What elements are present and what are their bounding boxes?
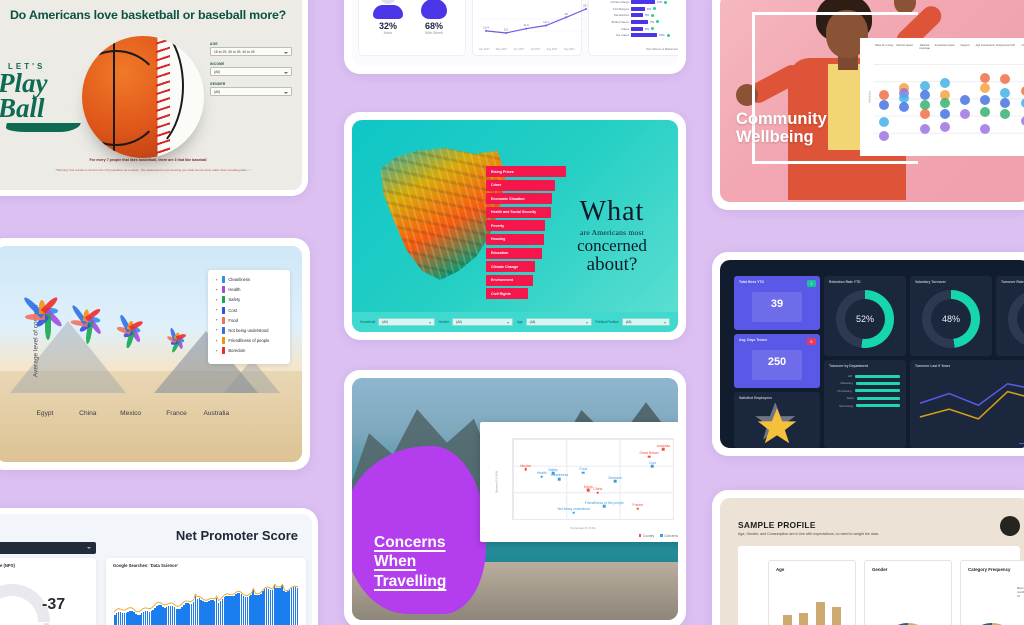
scatter-plot-area: MexicoSafetyHealthCleanlinessFoodEgyptCh… [512,438,674,520]
filter-label-age: AGE [210,42,292,46]
wellbeing-category-label: National coverage [914,44,934,50]
index-row-bar [631,0,655,4]
wellbeing-dot [960,109,970,119]
wellbeing-dot [1000,74,1010,84]
scatter-point [587,489,590,492]
department-bar [857,397,900,400]
wellbeing-dot [879,90,889,100]
index-row-value: 6% [647,7,651,11]
concern-bar-label: Economic Situation [491,197,525,201]
scatter-point [558,478,561,481]
legend-row: ✦Health [214,286,284,293]
donut-first-year-turnover: Turnover Rate 1st Year Tenure 22% [996,276,1024,356]
legend-swatch [222,337,225,344]
donut-title-voluntary: Voluntary Turnover [915,280,946,284]
wellbeing-dot [980,73,990,83]
nps-trend-label: Google Searches: 'Data Science' [113,563,178,568]
legend-glyph-icon: ✦ [214,298,219,302]
scatter-point [582,471,585,474]
legend-row: ✦Friendliness of people [214,337,284,344]
index-row-bar [631,13,643,17]
filter-label-gender: GENDER [210,82,292,86]
kpi-avg-days-tenure: Avg. Days Tenure 8 250 [734,334,820,388]
index-row-name: Hot Cakes [593,33,629,37]
concern-filter-select[interactable]: (All) [452,318,513,326]
wellbeing-column [940,64,950,150]
nps-region-select[interactable]: United Kingdom [0,542,96,554]
donut-value-retention: 52% [845,299,885,339]
legend-glyph-icon: ✦ [214,349,219,353]
wellbeing-dot [940,122,950,132]
concern-bar: Climate Change [486,261,535,272]
donut-value-voluntary: 48% [931,299,971,339]
legend-swatch [222,347,225,354]
community-title: Community Wellbeing [736,111,827,146]
scatter-point [651,465,654,468]
scatter-y-axis-label: Distance (0-10 KM) [496,471,499,493]
legend-swatch [660,534,663,537]
wellbeing-category-label: Cancel [1016,44,1024,50]
wellbeing-dot [879,117,889,127]
index-row-name: Sandwiches [593,13,629,17]
travel-title-line-3: Travelling [374,573,446,590]
legend-label: Boredom [228,348,245,353]
concern-filter-select[interactable]: (All) [526,318,592,326]
windmill-country-label: Mexico [120,410,141,417]
x-tick-label: Sep 2017 [564,48,575,51]
satisfied-title: Satisfied Employees [739,396,772,400]
category-key-value: 40 [1017,595,1024,599]
with-others-label: With Others [421,31,447,35]
concern-bar-label: Environment [491,278,513,282]
community-canvas: Satisfaction Value for moneyInternet spe… [720,0,1024,202]
concern-filter[interactable]: Household(All) [360,318,435,326]
x-tick-label: Aug 2017 [547,48,558,51]
concern-bar: Housing [486,234,544,245]
community-title-line-1: Community [736,110,827,128]
index-row-name: Chicken Wings [593,0,629,4]
wellbeing-category-label: Internet speed [894,44,914,50]
filter-select-age[interactable]: 18 to 29, 30 to 39, 40 to 49 [210,47,292,56]
filter-select-gender[interactable]: (All) [210,87,292,96]
tile-turnover-last-5-years: Turnover Last 5 Years LeaversNew Hires [910,360,1024,448]
index-row: Cakes5% [593,27,678,31]
donut-chart-retention: 52% [836,290,894,348]
tile-gender: Gender [864,560,952,625]
card-sample-profile[interactable]: SAMPLE PROFILE Age, Gender, and Consumpt… [712,490,1024,625]
concern-filter-label: Political Position [596,320,619,324]
concern-bar-label: Crime [491,183,501,187]
wellbeing-category-labels: Value for moneyInternet speedNational co… [874,44,1024,50]
scatter-point [637,507,640,510]
index-row-value: 5% [645,27,649,31]
wellbeing-dot [940,78,950,88]
card-hr-dashboard[interactable]: Total Hires YTD 2 39 Avg. Days Tenure 8 … [712,252,1024,456]
index-row-name: Bottled Sauce [593,20,629,24]
tile-title-age: Age [776,567,784,572]
headline-line-3: concerned [560,237,664,255]
wellbeing-dot [1000,109,1010,119]
scatter-point [597,491,600,494]
concern-bar: Rising Prices [486,166,566,177]
tile-age: Age [768,560,856,625]
basketball-baseball-image [82,36,204,158]
wellbeing-dot [1000,88,1010,98]
index-row-dot-icon [653,7,656,10]
nps-gauge-label: Net Promoter Score (NPS) [0,563,15,568]
wellbeing-column [920,64,930,150]
travel-scatter-panel: Distance (0-10 KM) MexicoSafetyHealthCle… [480,422,678,542]
wellbeing-dot [940,98,950,108]
scatter-legend-item: Country [639,534,654,538]
sample-profile-title: SAMPLE PROFILE [738,520,816,530]
legend-glyph-icon: ✦ [214,339,219,343]
scatter-point-label: Boredom [609,476,623,480]
wellbeing-category-label: Support [955,44,975,50]
legend-swatch [222,276,225,283]
legend-row: ✦Safety [214,296,284,303]
community-title-line-2: Wellbeing [736,128,814,146]
legend-glyph-icon: ✦ [214,318,219,322]
scatter-point-label: Great Britain [639,451,658,455]
index-row-value: 12% [659,33,665,37]
scatter-point [541,475,544,478]
department-name: Marketing [830,381,853,385]
index-row-dot-icon [651,14,654,17]
wellbeing-column [980,64,990,150]
donut-value-first-year: 22% [1017,299,1024,339]
concerned-canvas: Rising PricesCrimeEconomic SituationHeal… [352,120,678,332]
scatter-point-label: Cost [649,461,656,465]
wellbeing-column [899,64,909,150]
legend-row: ✦Cost [214,307,284,314]
index-row-name: Cakes [593,27,629,31]
trend-x-ticks: Apr 2017May 2017Jun 2017Jul 2017Aug 2017… [479,48,575,51]
play-ball-logo: LET'S Play Ball [0,62,88,132]
legend-label: Health [228,287,240,292]
donut-title-first-year: Turnover Rate 1st Year Tenure [1001,280,1024,284]
logo-swoosh [5,123,81,132]
wellbeing-dot [879,100,889,110]
wellbeing-column [1000,64,1010,150]
alone-pct: 32% [373,21,403,31]
legend-label: Friendliness of people [228,338,269,343]
card-americans-concerned[interactable]: Rising PricesCrimeEconomic SituationHeal… [344,112,686,340]
dept-bar-list: HRMarketingPurchasingSalesTechnology [830,374,900,411]
concern-bar: Economic Situation [486,193,552,204]
department-bar-row: HR [830,374,900,378]
card-community-wellbeing[interactable]: Satisfaction Value for moneyInternet spe… [712,0,1024,210]
star-icon [755,403,799,445]
wellbeing-dot [879,131,889,141]
play-ball-canvas: Do Americans love basketball or baseball… [0,0,302,190]
tile-category-frequency: Category Frequency More than once a mont… [960,560,1024,625]
legend-label: Cost [228,308,237,313]
wellbeing-column [1021,64,1024,150]
concern-filter-select[interactable]: (All) [378,318,434,326]
scatter-point [573,511,576,514]
legend-row: ✦Not being understood [214,327,284,334]
age-bar [832,607,841,625]
category-key-label: More than once a month [1017,587,1024,595]
wellbeing-dot [960,95,970,105]
legend-swatch [222,327,225,334]
kpi-title-avg-tenure: Avg. Days Tenure [739,338,767,342]
index-row: Hot Cakes12% [593,33,678,37]
tile-title-category-frequency: Category Frequency [968,567,1010,572]
concerned-filter-bar: Household(All)Gender(All)Age(All)Politic… [352,312,678,332]
concern-bar-label: Rising Prices [491,170,514,174]
wellbeing-plot-area [874,64,1024,150]
department-name: Technology [830,404,853,408]
card-windmill-concern[interactable]: Average level of concern EgyptChinaMexic… [0,238,310,470]
legend-glyph-icon: ✦ [214,308,219,312]
filter-label-income: INCOME [210,62,292,66]
concern-bar: Health and Social Security [486,207,551,218]
concern-bar-label: Health and Social Security [491,210,536,214]
index-row-bar [631,33,657,37]
travel-title-line-1: Concerns [374,534,446,551]
concern-filter[interactable]: Gender(All) [439,318,514,326]
nps-gauge-value: -37 [42,596,65,614]
department-name: Sales [830,396,854,400]
donut-retention-rate: Retention Rate YTD 52% [824,276,906,356]
wellbeing-dot [899,102,909,112]
donut-chart-first-year: 22% [1008,290,1024,348]
with-others-pct: 68% [421,21,447,31]
person-body-icon [421,0,447,19]
travel-title-line-2: When [374,553,416,570]
svg-text:13.4: 13.4 [543,20,549,24]
windmill-country-label: China [79,410,96,417]
svg-text:10.4: 10.4 [483,25,489,29]
tile-category-index: Category Index Cash Bonuses7%Wraps5%Chic… [588,0,678,56]
concern-bar-label: Housing [491,237,505,241]
scatter-point [614,480,617,483]
department-bar [855,375,900,378]
x-tick-label: Jul 2017 [530,48,540,51]
department-bar [856,382,900,385]
department-bar [855,389,900,392]
google-searches-area-chart [114,574,298,625]
alone-label: Alone [373,31,403,35]
scatter-point-label: Health [537,471,547,475]
windmill-canvas: Average level of concern EgyptChinaMexic… [0,246,302,462]
sample-profile-panel: Age Gender Category Frequency More tha [738,546,1020,625]
concern-bar-label: Climate Change [491,265,518,269]
scatter-point-label: France [633,503,644,507]
department-bar-row: Technology [830,404,900,408]
index-row: Sandwiches5% [593,13,678,17]
kpi-value-total-hires: 39 [771,298,783,310]
svg-text:18: 18 [564,12,568,16]
x-tick-label: Apr 2017 [479,48,490,51]
wellbeing-column [960,64,970,150]
headline-line-4: about? [560,255,664,275]
legend-label: Not being understood [228,328,268,333]
headline-line-1: What [560,198,664,226]
age-bar [799,613,808,625]
department-name: HR [830,374,852,378]
index-row: Bottled Sauce7% [593,20,678,24]
scatter-point-label: Australia [657,444,670,448]
department-bar-row: Marketing [830,381,900,385]
department-bar-row: Purchasing [830,389,900,393]
concern-bar-label: Civil Rights [491,292,511,296]
legend-label: Safety [228,297,240,302]
concern-bar: Environment [486,275,533,286]
wellbeing-dot [920,109,930,119]
kpi-total-hires: Total Hires YTD 2 39 [734,276,820,330]
scatter-point [662,448,665,451]
legend-label: Food [228,318,238,323]
index-row-value: 7% [650,20,654,24]
legend-line-swatch [1019,443,1024,444]
index-row-name: Fish Burgers [593,7,629,11]
card-concerns-when-travelling[interactable]: Concerns When Travelling Distance (0-10 … [344,370,686,625]
person-body-icon [373,5,403,19]
kpi-value-avg-tenure: 250 [768,356,786,368]
age-bar [816,602,825,625]
scatter-point [603,505,606,508]
legend-glyph-icon: ✦ [214,288,219,292]
person-icon-alone: 32% Alone [373,0,403,35]
turnover-trend-legend: LeaversNew Hires [1019,442,1024,445]
scatter-point-label: Not being understood [558,507,590,511]
concern-filter-select[interactable]: (All) [622,318,670,326]
tile-title-gender: Gender [872,567,887,572]
legend-swatch [222,307,225,314]
scatter-point-label: China [593,487,602,491]
wellbeing-dot [980,124,990,134]
card-top-dashboard[interactable]: Alone vs Others 32% Alone 68% With Other… [344,0,686,74]
index-row: Fish Burgers6% [593,7,678,11]
tile-trend: Trend Against p.a. 10.49.211.613.41822.7… [472,0,582,56]
wellbeing-dot [980,107,990,117]
card-play-ball[interactable]: Do Americans love basketball or baseball… [0,0,308,196]
nps-canvas: Net Promoter Score United Kingdom Net Pr… [0,514,312,625]
sample-profile-canvas: SAMPLE PROFILE Age, Gender, and Consumpt… [720,498,1024,625]
nps-title: Net Promoter Score [176,528,298,543]
concern-filter[interactable]: Age(All) [517,318,592,326]
legend-glyph-icon: ✦ [214,278,219,282]
department-bar-row: Sales [830,396,900,400]
page-title: Do Americans love basketball or baseball… [0,8,302,22]
legend-glyph-icon: ✦ [214,328,219,332]
tile-satisfied-employees: Satisfied Employees [734,392,820,448]
play-ball-filter-panel: AGE 18 to 29, 30 to 39, 40 to 49 INCOME … [210,42,292,102]
scatter-point [648,455,651,458]
concern-bar: Poverty [486,220,545,231]
wellbeing-dot [980,95,990,105]
concern-bar: Civil Rights [486,288,528,299]
sample-profile-subtitle: Age, Gender, and Consumption are in line… [738,532,879,536]
age-bar [783,615,792,625]
turnover-trend-chart [916,376,1024,431]
pyramid-icon-1 [10,321,126,393]
legend-row: ✦Boredom [214,347,284,354]
wellbeing-dot [1021,98,1024,108]
travel-canvas: Concerns When Travelling Distance (0-10 … [352,378,678,620]
wellbeing-column [879,64,889,150]
top-dashboard-canvas: Alone vs Others 32% Alone 68% With Other… [352,0,678,66]
concern-bar-chart: Rising PricesCrimeEconomic SituationHeal… [486,166,566,302]
index-row-dot-icon [651,27,654,30]
area-chart-trend-line [114,574,298,625]
scatter-x-axis-label: Percentage (% Of All) [480,527,678,530]
pyramid-icon-3 [224,359,280,393]
concern-bar: Crime [486,180,555,191]
kpi-title-total-hires: Total Hires YTD [739,280,764,284]
index-row-dot-icon [664,1,667,4]
scatter-point-label: Friendliness of the people [585,501,624,505]
concern-filter[interactable]: Political Position(All) [596,318,671,326]
scatter-legend: CountryConcerns [639,534,678,538]
kpi-badge-total-hires: 2 [807,280,816,287]
legend-row: ✦Cleanliness [214,276,284,283]
index-row-value: 11% [657,0,662,4]
concern-filter-label: Gender [439,320,450,324]
legend-swatch [222,286,225,293]
concern-filter-label: Age [517,320,523,324]
wellbeing-category-label: Investment plans [935,44,955,50]
tile-turnover-by-department: Turnover by Department HRMarketingPurcha… [824,360,906,448]
play-ball-footnote: For every 7 people that likes basketball… [0,158,302,162]
svg-text:9.2: 9.2 [504,28,509,32]
concerned-headline: What are Americans most concerned about? [560,198,664,275]
donut-title-retention: Retention Rate YTD [829,280,861,284]
filter-select-income[interactable]: (All) [210,67,292,76]
hr-dashboard-canvas: Total Hires YTD 2 39 Avg. Days Tenure 8 … [720,260,1024,448]
wellbeing-category-label: Value for money [874,44,894,50]
wellbeing-category-label: Employment bill [995,44,1015,50]
windmill-country-label: Egypt [37,410,54,417]
svg-text:11.6: 11.6 [523,23,529,27]
x-tick-label: Jun 2017 [513,48,524,51]
index-row-bar [631,7,645,11]
index-row-bar [631,27,643,31]
concern-filter-label: Household [360,320,375,324]
nps-trend-panel: Google Searches: 'Data Science' Jul 17Ja… [106,558,306,625]
department-name: Purchasing [830,389,852,393]
legend-swatch [639,534,642,537]
legend-label: Cleanliness [228,277,250,282]
trend-title: Turnover Last 5 Years [915,364,950,368]
wellbeing-dot [1021,116,1024,126]
wellbeing-dot [1000,98,1010,108]
index-row-list: Cash Bonuses7%Wraps5%Chicken Wings11%Fis… [593,0,678,40]
wellbeing-dot-chart: Satisfaction Value for moneyInternet spe… [860,38,1024,156]
category-key-list: More than once a month 40 [1017,587,1024,599]
scatter-point-label: Safety [548,468,558,472]
card-net-promoter-score[interactable]: Net Promoter Score United Kingdom Net Pr… [0,508,318,625]
concern-bar-label: Poverty [491,224,504,228]
age-bar-chart [779,589,845,625]
concern-bar-label: Education [491,251,508,255]
trend-legend-item: Leavers [1019,442,1024,445]
legend-swatch [222,296,225,303]
wellbeing-dot [940,109,950,119]
donut-chart-voluntary: 48% [922,290,980,348]
person-head-icon [380,0,396,4]
play-ball-disclaimer: *Warning: this results is not from the U… [14,168,292,172]
department-bar [856,404,900,407]
scatter-point-label: Mexico [520,464,531,468]
tile-alone-vs-others: Alone vs Others 32% Alone 68% With Other… [358,0,466,56]
windmill-country-label: Australia [203,410,229,417]
wellbeing-category-label: Agri investments [975,44,995,50]
nps-gauge-panel: Net Promoter Score (NPS) -100 100 -37 [0,558,96,625]
